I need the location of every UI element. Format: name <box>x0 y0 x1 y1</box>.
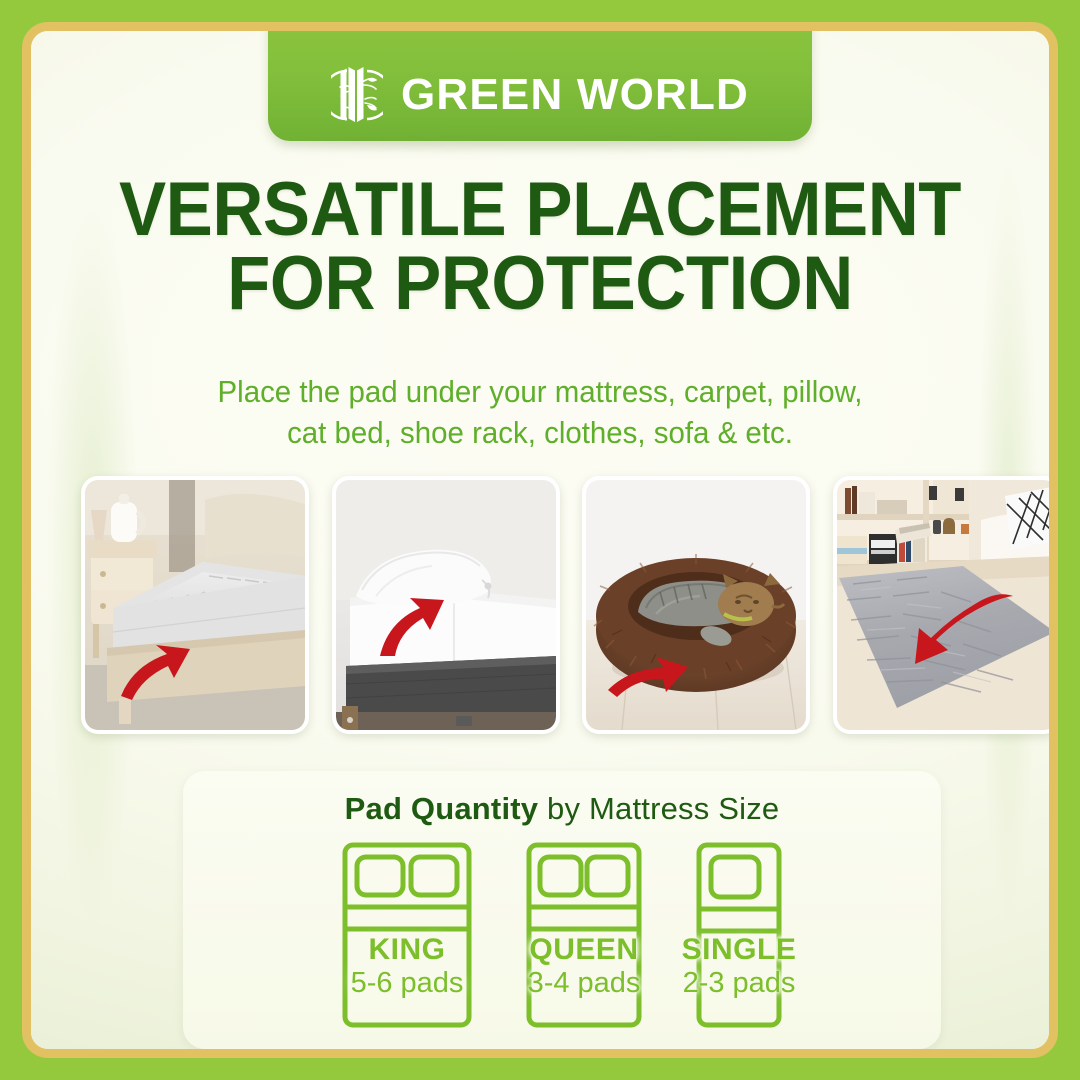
bed-caption-single: SINGLE 2-3 pads <box>657 935 822 999</box>
brand-row: GREEN WORLD <box>331 65 749 125</box>
brand-name: GREEN WORLD <box>401 73 749 117</box>
headline-line-2: FOR PROTECTION <box>67 247 1014 321</box>
bed-size-queen: QUEEN 3-4 pads <box>525 841 643 1029</box>
photo-image-cat-bed <box>586 480 806 730</box>
photo-card-cat-bed <box>582 476 810 734</box>
bed-name-queen: QUEEN <box>502 935 667 966</box>
poster: GREEN WORLD VERSATILE PLACEMENT FOR PROT… <box>0 0 1080 1080</box>
photo-card-rug <box>833 476 1049 734</box>
gold-frame-border: GREEN WORLD VERSATILE PLACEMENT FOR PROT… <box>22 22 1058 1058</box>
bed-pads-queen: 3-4 pads <box>502 969 667 999</box>
photo-strip <box>81 476 1049 734</box>
bed-name-king: KING <box>325 935 490 966</box>
bed-caption-queen: QUEEN 3-4 pads <box>502 935 667 999</box>
subheadline: Place the pad under your mattress, carpe… <box>199 371 881 453</box>
poster-canvas: GREEN WORLD VERSATILE PLACEMENT FOR PROT… <box>31 31 1049 1049</box>
bed-pads-king: 5-6 pads <box>325 969 490 999</box>
bed-size-single: SINGLE 2-3 pads <box>695 841 783 1029</box>
bed-name-single: SINGLE <box>657 935 822 966</box>
headline: VERSATILE PLACEMENT FOR PROTECTION <box>67 173 1014 322</box>
photo-image-rug <box>837 480 1049 730</box>
photo-card-mattress <box>81 476 309 734</box>
photo-image-mattress <box>85 480 305 730</box>
photo-card-pillow <box>332 476 560 734</box>
headline-line-1: VERSATILE PLACEMENT <box>119 167 961 252</box>
bed-pads-single: 2-3 pads <box>657 969 822 999</box>
photo-image-pillow <box>336 480 556 730</box>
brand-banner: GREEN WORLD <box>268 31 812 141</box>
bed-caption-king: KING 5-6 pads <box>325 935 490 999</box>
pad-quantity-title-regular: by Mattress Size <box>538 791 779 826</box>
pad-quantity-title: Pad Quantity by Mattress Size <box>183 791 941 827</box>
bed-size-list: KING 5-6 pads <box>183 841 941 1029</box>
bed-size-king: KING 5-6 pads <box>341 841 473 1029</box>
bamboo-circle-icon <box>331 65 383 125</box>
pad-quantity-card: Pad Quantity by Mattress Size <box>183 771 941 1049</box>
pad-quantity-title-bold: Pad Quantity <box>345 791 539 826</box>
